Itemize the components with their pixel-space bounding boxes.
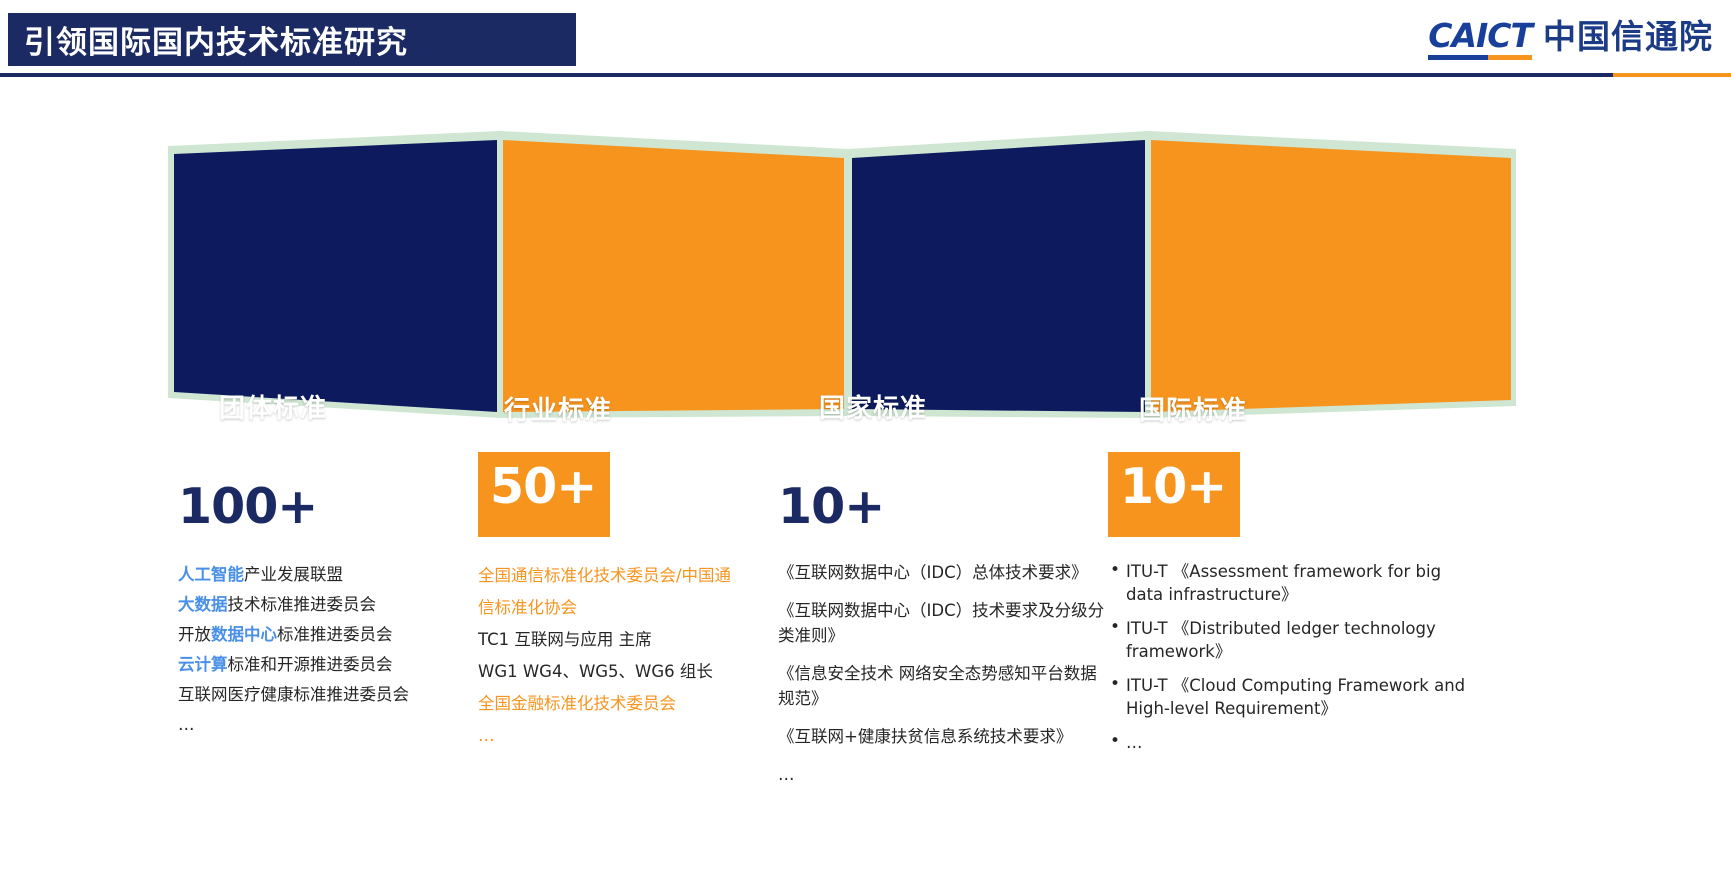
list-item: 全国金融标准化技术委员会 [478, 688, 778, 720]
list-item: 信标准化协会 [478, 592, 778, 624]
list-item-text: … [178, 715, 195, 734]
list-item-text: … [778, 765, 795, 784]
list-item-text: 标准推进委员会 [277, 625, 393, 644]
list-item-text: 数据中心 [211, 625, 277, 644]
logo-chinese-name: 中国信通院 [1543, 20, 1713, 60]
list-item-text: 人工智能 [178, 565, 244, 584]
list-item: 《互联网数据中心（IDC）总体技术要求》 [778, 560, 1108, 585]
list-item-text: ITU-T 《Assessment framework for big data… [1126, 562, 1441, 604]
count-wrap-2: 50+ [478, 452, 778, 560]
header-rule-blue [0, 73, 1613, 77]
detail-columns: 100+ 人工智能产业发展联盟大数据技术标准推进委员会开放数据中心标准推进委员会… [0, 452, 1731, 879]
list-item-text: ITU-T 《Cloud Computing Framework and Hig… [1126, 676, 1465, 718]
list-international-standards: ITU-T 《Assessment framework for big data… [1108, 560, 1478, 754]
logo-acronym: CAICT [1428, 19, 1532, 52]
list-item-text: 《互联网数据中心（IDC）总体技术要求》 [778, 563, 1088, 582]
ribbon-panel-1 [174, 140, 497, 412]
list-item-text: 大数据 [178, 595, 228, 614]
list-national-standards: 《互联网数据中心（IDC）总体技术要求》《互联网数据中心（IDC）技术要求及分级… [778, 560, 1108, 787]
count-badge-1: 100+ [178, 482, 317, 531]
ribbon-label-3: 国家标准 [819, 388, 927, 425]
ribbon-panel-2 [503, 140, 844, 412]
list-item: 开放数据中心标准推进委员会 [178, 620, 488, 650]
list-item: … [178, 710, 488, 740]
list-item: … [1108, 731, 1478, 754]
list-item-text: … [1126, 733, 1143, 752]
list-item-text: 云计算 [178, 655, 228, 674]
list-item: WG1 WG4、WG5、WG6 组长 [478, 656, 778, 688]
column-group-standards: 100+ 人工智能产业发展联盟大数据技术标准推进委员会开放数据中心标准推进委员会… [178, 452, 488, 740]
ribbon-panel-3 [852, 140, 1145, 412]
list-item-text: WG1 WG4、WG5、WG6 组长 [478, 662, 713, 681]
count-badge-2: 50+ [478, 452, 610, 537]
list-item-text: 《信息安全技术 网络安全态势感知平台数据规范》 [778, 664, 1097, 708]
list-item-text: 信标准化协会 [478, 598, 577, 617]
count-badge-3: 10+ [778, 482, 884, 531]
list-item: 大数据技术标准推进委员会 [178, 590, 488, 620]
list-item: 《互联网数据中心（IDC）技术要求及分级分类准则》 [778, 598, 1108, 648]
slide-header: 引领国际国内技术标准研究 CAICT 中国信通院 [0, 0, 1731, 80]
list-item: … [478, 720, 778, 752]
list-item-text: TC1 互联网与应用 主席 [478, 630, 652, 649]
ribbon-panel-4 [1151, 140, 1511, 412]
list-item-text: 互联网医疗健康标准推进委员会 [178, 685, 409, 704]
ribbon-label-1: 团体标准 [219, 388, 327, 425]
slide-root: 引领国际国内技术标准研究 CAICT 中国信通院 [0, 0, 1731, 879]
list-item: 全国通信标准化技术委员会/中国通 [478, 560, 778, 592]
column-industry-standards: 50+ 全国通信标准化技术委员会/中国通信标准化协会TC1 互联网与应用 主席W… [478, 452, 778, 752]
list-item-text: 产业发展联盟 [244, 565, 343, 584]
list-item: 《信息安全技术 网络安全态势感知平台数据规范》 [778, 661, 1108, 711]
list-industry-standards: 全国通信标准化技术委员会/中国通信标准化协会TC1 互联网与应用 主席WG1 W… [478, 560, 778, 752]
count-wrap-1: 100+ [178, 452, 488, 560]
title-plate: 引领国际国内技术标准研究 [8, 13, 576, 66]
list-item: ITU-T 《Assessment framework for big data… [1108, 560, 1478, 606]
standards-ribbon: 团体标准 行业标准 国家标准 国际标准 [0, 118, 1731, 448]
logo-mark: CAICT [1428, 19, 1532, 60]
list-item: 《互联网+健康扶贫信息系统技术要求》 [778, 724, 1108, 749]
list-item: TC1 互联网与应用 主席 [478, 624, 778, 656]
list-item-text: 《互联网+健康扶贫信息系统技术要求》 [778, 727, 1072, 746]
list-item-text: … [478, 726, 495, 745]
list-item-text: 标准和开源推进委员会 [228, 655, 393, 674]
list-item-text: 开放 [178, 625, 211, 644]
header-rule [0, 73, 1731, 77]
list-item-text: ITU-T 《Distributed ledger technology fra… [1126, 619, 1436, 661]
list-item-text: 全国金融标准化技术委员会 [478, 694, 676, 713]
list-group-standards: 人工智能产业发展联盟大数据技术标准推进委员会开放数据中心标准推进委员会云计算标准… [178, 560, 488, 740]
list-item-text: 技术标准推进委员会 [228, 595, 377, 614]
list-item: ITU-T 《Cloud Computing Framework and Hig… [1108, 674, 1478, 720]
list-item: … [778, 762, 1108, 787]
list-item: 人工智能产业发展联盟 [178, 560, 488, 590]
column-national-standards: 10+ 《互联网数据中心（IDC）总体技术要求》《互联网数据中心（IDC）技术要… [778, 452, 1108, 800]
header-rule-orange [1613, 73, 1731, 77]
page-title: 引领国际国内技术标准研究 [8, 17, 408, 62]
logo-underline-icon [1428, 55, 1532, 60]
count-wrap-4: 10+ [1108, 452, 1478, 560]
count-wrap-3: 10+ [778, 452, 1108, 560]
count-badge-4: 10+ [1108, 452, 1240, 537]
column-international-standards: 10+ ITU-T 《Assessment framework for big … [1108, 452, 1478, 765]
list-item-text: 全国通信标准化技术委员会/中国通 [478, 566, 731, 585]
list-item: ITU-T 《Distributed ledger technology fra… [1108, 617, 1478, 663]
list-item-text: 《互联网数据中心（IDC）技术要求及分级分类准则》 [778, 601, 1104, 645]
ribbon-label-2: 行业标准 [504, 390, 612, 427]
ribbon-label-4: 国际标准 [1139, 390, 1247, 427]
list-item: 云计算标准和开源推进委员会 [178, 650, 488, 680]
list-item: 互联网医疗健康标准推进委员会 [178, 680, 488, 710]
caict-logo: CAICT 中国信通院 [1428, 12, 1713, 60]
